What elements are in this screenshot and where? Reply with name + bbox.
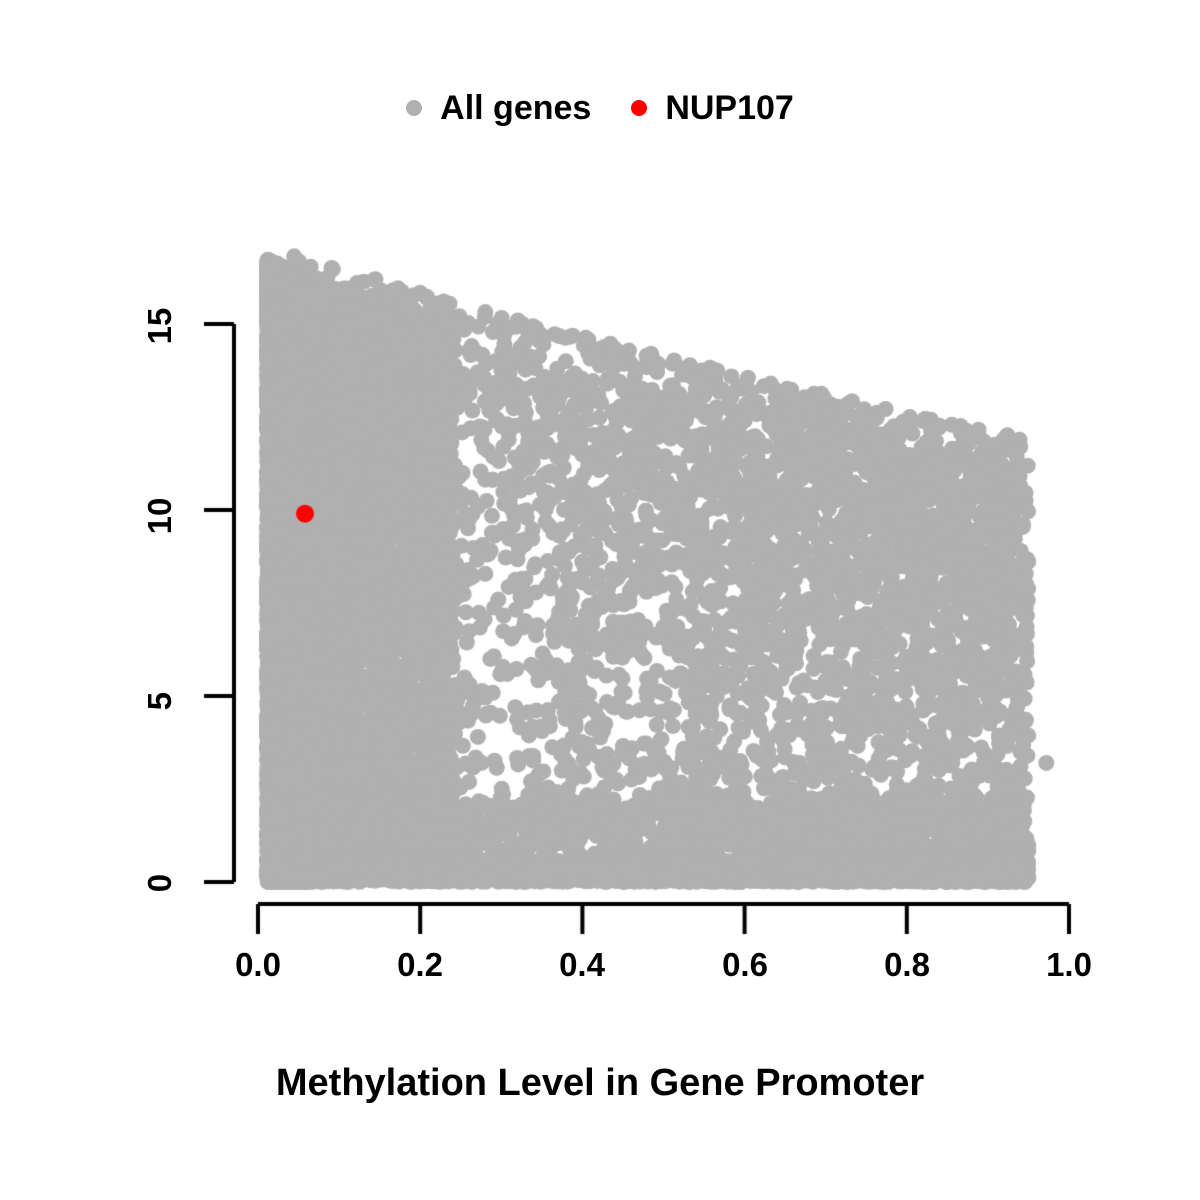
x-tick-label: 1.0 (1046, 946, 1092, 984)
x-tick-label: 0.0 (235, 946, 281, 984)
x-axis-title: Methylation Level in Gene Promoter (0, 1062, 1200, 1105)
legend-label-all-genes: All genes (440, 91, 591, 125)
legend-entry-all-genes: All genes (406, 91, 591, 125)
scatter-plot-figure: All genes NUP107 Methylation Level in Ge… (0, 0, 1200, 1200)
legend-entry-nup107: NUP107 (631, 91, 794, 125)
x-tick-label: 0.2 (397, 946, 443, 984)
x-tick-label: 0.4 (559, 946, 605, 984)
y-tick-label: 10 (141, 496, 179, 536)
scatter-plot-canvas (0, 0, 1200, 1200)
y-tick-label: 5 (141, 681, 179, 721)
y-tick-label: 15 (141, 306, 179, 346)
legend-marker-icon-nup107 (631, 100, 647, 116)
chart-legend: All genes NUP107 (0, 78, 1200, 138)
x-tick-label: 0.6 (722, 946, 768, 984)
y-tick-label: 0 (141, 863, 179, 903)
x-tick-label: 0.8 (884, 946, 930, 984)
legend-marker-icon-all-genes (406, 100, 422, 116)
legend-label-nup107: NUP107 (665, 91, 794, 125)
